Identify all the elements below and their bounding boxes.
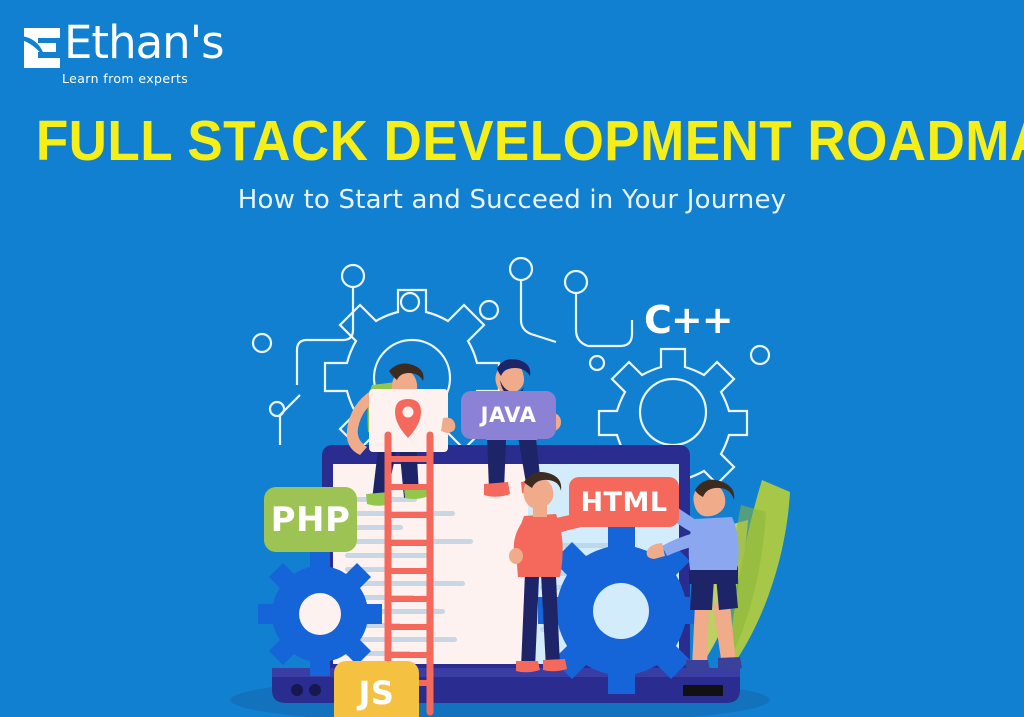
badge-java: JAVA xyxy=(461,391,556,439)
ethans-leaf-e-logo-icon xyxy=(18,24,64,70)
brand-name: Ethan's xyxy=(64,20,224,65)
badge-html: HTML xyxy=(569,477,679,527)
full-stack-roadmap-banner: Ethan's Learn from experts FULL STACK DE… xyxy=(0,0,1024,717)
badge-php: PHP xyxy=(264,487,357,552)
illustration-artwork xyxy=(0,0,1024,717)
page-subtitle: How to Start and Succeed in Your Journey xyxy=(0,185,1024,215)
gear-solid-left-icon xyxy=(258,552,382,676)
laptop-indicator-dot-1 xyxy=(291,684,303,696)
laptop-trackpad xyxy=(683,685,723,696)
brand-tagline: Learn from experts xyxy=(62,71,188,86)
label-cpp: C++ xyxy=(644,298,733,342)
page-title: FULL STACK DEVELOPMENT ROADMAP xyxy=(36,112,988,172)
badge-js: JS xyxy=(334,661,419,717)
laptop-indicator-dot-2 xyxy=(309,684,321,696)
brand-logo[interactable]: Ethan's Learn from experts xyxy=(18,18,198,90)
